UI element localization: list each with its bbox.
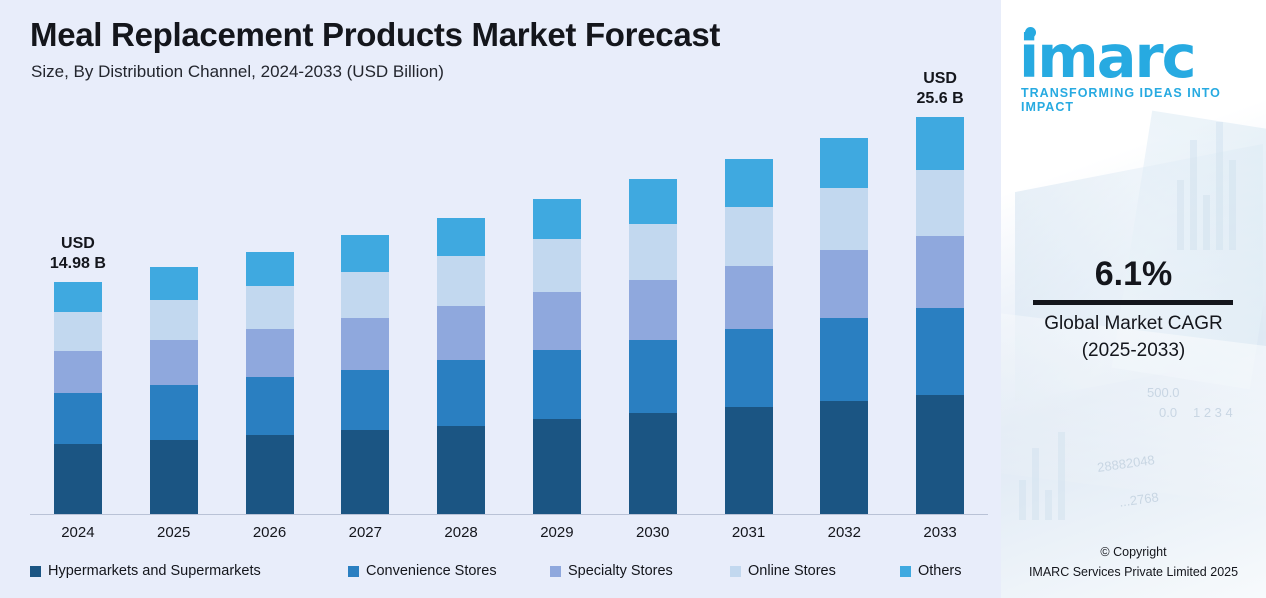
legend-item: Specialty Stores (550, 563, 673, 579)
bar-segment (54, 393, 102, 444)
bar-segment (916, 308, 964, 395)
logo-dot-icon (1025, 27, 1036, 38)
x-axis-label: 2032 (789, 524, 899, 541)
legend-label: Specialty Stores (568, 563, 673, 579)
bar-segment (150, 440, 198, 514)
bar-segment (150, 340, 198, 385)
bar-segment (341, 235, 389, 272)
decorative-number-1: 500.0 (1147, 385, 1180, 400)
bar-segment (916, 236, 964, 307)
legend-item: Online Stores (730, 563, 836, 579)
x-axis-labels: 2024202520262027202820292030203120322033 (30, 524, 990, 546)
bar-group (725, 159, 773, 514)
page-subtitle: Size, By Distribution Channel, 2024-2033… (31, 62, 444, 82)
logo-tagline: TRANSFORMING IDEAS INTO IMPACT (1021, 86, 1255, 114)
x-axis-label: 2026 (215, 524, 325, 541)
legend-item: Convenience Stores (348, 563, 497, 579)
x-axis-label: 2025 (119, 524, 229, 541)
legend-swatch-icon (348, 566, 359, 577)
bar-segment (533, 199, 581, 239)
bar-segment (341, 370, 389, 431)
chart-panel: Meal Replacement Products Market Forecas… (0, 0, 1001, 598)
bar-group (820, 138, 868, 514)
bar-segment (437, 360, 485, 425)
bar-segment (341, 318, 389, 369)
legend-label: Hypermarkets and Supermarkets (48, 563, 261, 579)
cagr-label-line1: Global Market CAGR (1001, 313, 1266, 335)
bar-segment (820, 138, 868, 188)
bar-segment (629, 179, 677, 224)
plot-area: USD 14.98 B USD 25.6 B (30, 95, 990, 515)
bar-group (341, 235, 389, 514)
bar-group (54, 282, 102, 514)
company-text: IMARC Services Private Limited 2025 (1001, 565, 1266, 579)
bar-segment (916, 395, 964, 514)
bar-group (533, 199, 581, 514)
bar-segment (246, 377, 294, 434)
x-axis-label: 2024 (23, 524, 133, 541)
bar-group (246, 252, 294, 514)
x-axis-label: 2033 (885, 524, 995, 541)
bar-segment (820, 401, 868, 514)
legend-label: Others (918, 563, 962, 579)
bar-segment (54, 351, 102, 393)
bar-segment (246, 329, 294, 377)
bar-segment (629, 224, 677, 280)
bar-segment (916, 117, 964, 170)
bar-segment (820, 188, 868, 250)
bar-segment (54, 444, 102, 514)
bar-group (150, 267, 198, 514)
imarc-logo: imarc TRANSFORMING IDEAS INTO IMPACT (1015, 22, 1255, 92)
legend-item: Others (900, 563, 962, 579)
bar-segment (341, 272, 389, 319)
first-bar-value-line1: USD (23, 234, 133, 254)
bar-segment (533, 239, 581, 292)
bar-segment (246, 286, 294, 329)
legend-label: Convenience Stores (366, 563, 497, 579)
bar-segment (820, 250, 868, 318)
bar-segment (533, 350, 581, 420)
bar-segment (629, 340, 677, 413)
x-axis-line (30, 514, 988, 515)
legend-swatch-icon (730, 566, 741, 577)
bar-segment (820, 318, 868, 400)
cagr-divider (1033, 300, 1233, 305)
last-bar-value-line1: USD (885, 69, 995, 89)
bar-segment (725, 329, 773, 407)
last-bar-value-label: USD 25.6 B (885, 69, 995, 109)
bar-segment (437, 426, 485, 514)
last-bar-value-line2: 25.6 B (885, 89, 995, 109)
first-bar-value-line2: 14.98 B (23, 254, 133, 274)
first-bar-value-label: USD 14.98 B (23, 234, 133, 274)
bar-segment (437, 306, 485, 360)
copyright-text: © Copyright (1001, 545, 1266, 559)
bar-segment (150, 300, 198, 340)
legend-swatch-icon (550, 566, 561, 577)
chart-legend: Hypermarkets and SupermarketsConvenience… (30, 563, 990, 587)
logo-wordmark: imarc (1019, 22, 1195, 91)
legend-swatch-icon (30, 566, 41, 577)
brand-panel: 500.0 0.0 1 2 3 4 28882048 ...2768 imarc… (1001, 0, 1266, 598)
bar-segment (437, 256, 485, 306)
x-axis-label: 2031 (694, 524, 804, 541)
bar-group (629, 179, 677, 514)
bar-group (437, 218, 485, 514)
bar-segment (533, 419, 581, 514)
decorative-bars-2 (1019, 430, 1065, 520)
legend-item: Hypermarkets and Supermarkets (30, 563, 261, 579)
cagr-value: 6.1% (1001, 255, 1266, 294)
decorative-number-3: 1 2 3 4 (1193, 405, 1233, 420)
bar-segment (725, 266, 773, 330)
decorative-bars-1 (1177, 120, 1236, 250)
x-axis-label: 2030 (598, 524, 708, 541)
bar-segment (150, 267, 198, 300)
cagr-label-line2: (2025-2033) (1001, 340, 1266, 362)
x-axis-label: 2027 (310, 524, 420, 541)
bar-segment (629, 280, 677, 341)
bar-segment (437, 218, 485, 257)
bar-segment (54, 282, 102, 313)
bar-segment (246, 435, 294, 514)
bar-segment (150, 385, 198, 439)
x-axis-label: 2029 (502, 524, 612, 541)
bar-group (916, 117, 964, 514)
bar-segment (725, 207, 773, 266)
bar-segment (916, 170, 964, 237)
bar-segment (725, 159, 773, 207)
legend-swatch-icon (900, 566, 911, 577)
bar-segment (246, 252, 294, 286)
bar-segment (725, 407, 773, 514)
x-axis-label: 2028 (406, 524, 516, 541)
bar-segment (629, 413, 677, 514)
bar-segment (341, 430, 389, 514)
legend-label: Online Stores (748, 563, 836, 579)
page-title: Meal Replacement Products Market Forecas… (30, 16, 720, 54)
decorative-number-2: 0.0 (1159, 405, 1177, 420)
infographic-root: Meal Replacement Products Market Forecas… (0, 0, 1266, 598)
bar-segment (533, 292, 581, 349)
bar-segment (54, 312, 102, 351)
